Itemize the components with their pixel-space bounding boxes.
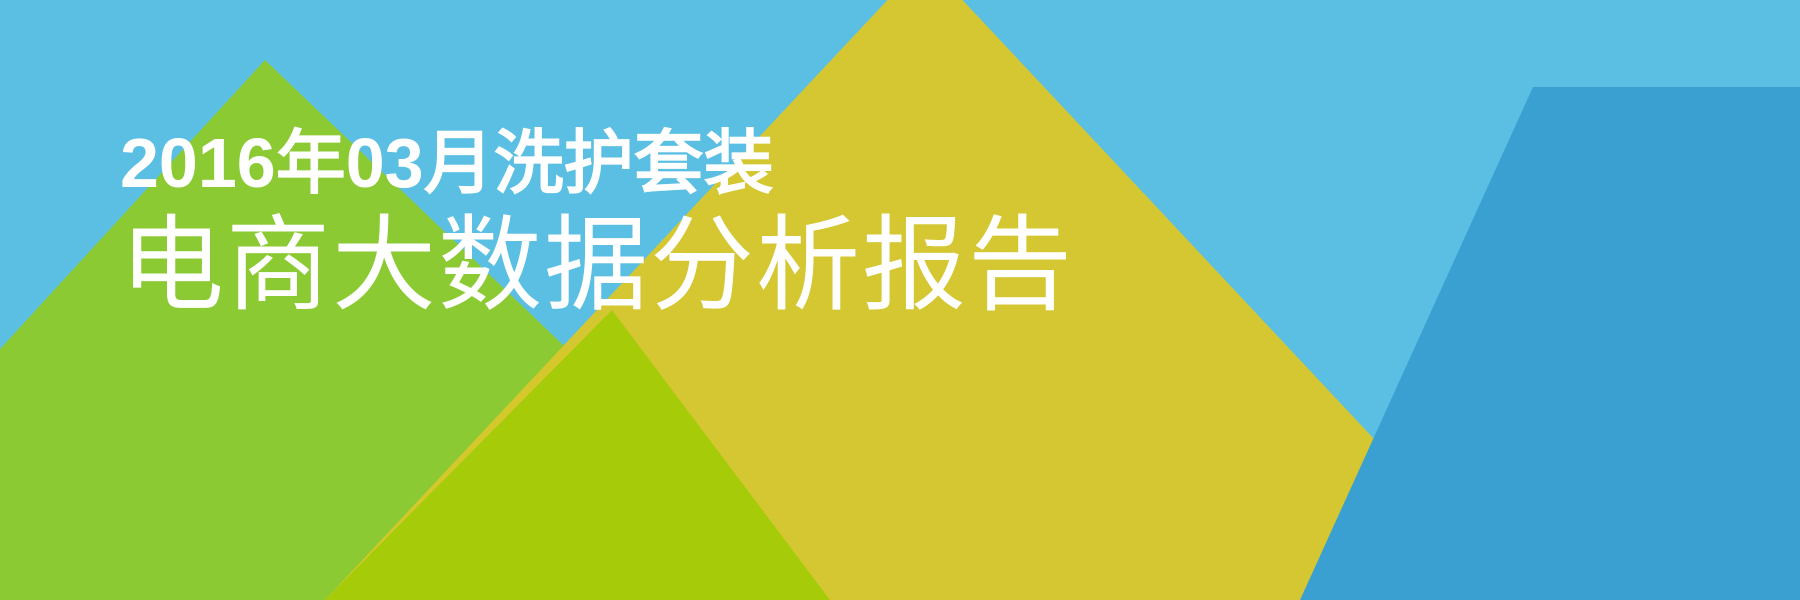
report-cover-banner: 2016年03月洗护套装 电商大数据分析报告 (0, 0, 1800, 600)
background-geometric-artwork (0, 0, 1800, 600)
